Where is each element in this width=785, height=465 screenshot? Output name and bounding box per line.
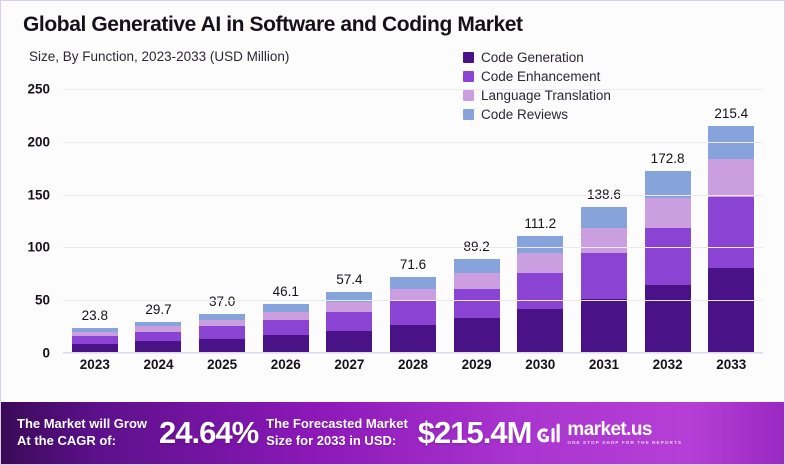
bar-segment[interactable] <box>454 259 500 273</box>
bar-segment[interactable] <box>390 277 436 288</box>
x-axis-labels: 2023202420252026202720282029203020312032… <box>63 357 763 381</box>
x-axis-tick-label: 2027 <box>318 357 382 381</box>
x-axis-tick-label: 2032 <box>636 357 700 381</box>
stacked-bar[interactable]: 57.4 <box>326 292 372 353</box>
stacked-bar[interactable]: 138.6 <box>581 207 627 353</box>
bar-segment[interactable] <box>708 268 754 353</box>
bar-segment[interactable] <box>581 207 627 229</box>
cagr-caption-line1: The Market will Grow <box>17 416 147 433</box>
bar-segment[interactable] <box>326 302 372 312</box>
stacked-bar[interactable]: 89.2 <box>454 259 500 353</box>
bar-segment[interactable] <box>135 332 181 342</box>
y-axis-tick-label: 50 <box>4 293 50 308</box>
bar-slot: 172.8 <box>636 89 700 353</box>
bar-value-label: 89.2 <box>464 239 490 254</box>
cagr-caption: The Market will Grow At the CAGR of: <box>17 416 147 449</box>
bar-segment[interactable] <box>517 309 563 353</box>
bar-slot: 23.8 <box>63 89 127 353</box>
bar-value-label: 57.4 <box>336 272 362 287</box>
bar-segment[interactable] <box>263 312 309 320</box>
bar-segment[interactable] <box>199 339 245 353</box>
bar-segment[interactable] <box>708 159 754 197</box>
bar-slot: 71.6 <box>381 89 445 353</box>
bar-group: 23.829.737.046.157.471.689.2111.2138.617… <box>63 89 763 353</box>
bar-segment[interactable] <box>645 228 691 285</box>
y-axis-tick-label: 0 <box>4 346 50 361</box>
bar-value-label: 23.8 <box>82 308 108 323</box>
bar-segment[interactable] <box>454 318 500 353</box>
bar-slot: 138.6 <box>572 89 636 353</box>
stacked-bar[interactable]: 37.0 <box>199 314 245 353</box>
bar-value-label: 172.8 <box>651 151 685 166</box>
stacked-bar[interactable]: 23.8 <box>72 328 118 353</box>
gridline <box>63 353 763 354</box>
bar-slot: 29.7 <box>127 89 191 353</box>
chart-subtitle: Size, By Function, 2023-2033 (USD Millio… <box>29 49 289 64</box>
bar-segment[interactable] <box>517 253 563 273</box>
bar-segment[interactable] <box>517 236 563 253</box>
bar-slot: 215.4 <box>699 89 763 353</box>
y-axis-tick-label: 200 <box>4 134 50 149</box>
stacked-bar[interactable]: 46.1 <box>263 304 309 353</box>
bar-slot: 57.4 <box>318 89 382 353</box>
stacked-bar[interactable]: 71.6 <box>390 277 436 353</box>
bar-value-label: 37.0 <box>209 294 235 309</box>
bar-segment[interactable] <box>72 336 118 344</box>
cagr-value: 24.64% <box>159 415 258 451</box>
gridline <box>63 142 763 143</box>
bar-segment[interactable] <box>263 304 309 311</box>
bar-segment[interactable] <box>326 312 372 331</box>
bar-segment[interactable] <box>517 273 563 310</box>
logo-tagline: ONE STOP SHOP FOR THE REPORTS <box>567 441 682 446</box>
bar-value-label: 46.1 <box>273 284 299 299</box>
gridline <box>63 247 763 248</box>
x-axis-tick-label: 2030 <box>508 357 572 381</box>
chart-card: Global Generative AI in Software and Cod… <box>0 0 785 465</box>
y-axis-tick-label: 250 <box>4 82 50 97</box>
legend-item[interactable]: Code Enhancement <box>463 68 611 85</box>
x-axis-tick-label: 2025 <box>190 357 254 381</box>
footer-banner: The Market will Grow At the CAGR of: 24.… <box>1 402 784 464</box>
x-axis-tick-label: 2029 <box>445 357 509 381</box>
bar-slot: 89.2 <box>445 89 509 353</box>
bar-segment[interactable] <box>199 326 245 338</box>
bar-value-label: 215.4 <box>714 106 748 121</box>
bar-segment[interactable] <box>263 320 309 335</box>
forecast-caption: The Forecasted Market Size for 2033 in U… <box>266 416 408 449</box>
bar-slot: 46.1 <box>254 89 318 353</box>
page-title: Global Generative AI in Software and Cod… <box>23 13 523 37</box>
x-axis-tick-label: 2026 <box>254 357 318 381</box>
cagr-caption-line2: At the CAGR of: <box>17 433 147 450</box>
gridline <box>63 195 763 196</box>
stacked-bar[interactable]: 172.8 <box>645 171 691 353</box>
y-axis-tick-label: 150 <box>4 187 50 202</box>
logo-bars-icon <box>533 420 563 446</box>
bar-segment[interactable] <box>645 198 691 229</box>
logo-text: market.us ONE STOP SHOP FOR THE REPORTS <box>567 420 682 446</box>
bar-slot: 111.2 <box>508 89 572 353</box>
plot-region: 23.829.737.046.157.471.689.2111.2138.617… <box>63 89 763 353</box>
chart-area: Global Generative AI in Software and Cod… <box>1 1 784 393</box>
legend-swatch-icon <box>463 71 474 82</box>
x-axis-tick-label: 2024 <box>127 357 191 381</box>
legend-label: Code Generation <box>481 50 584 65</box>
gridline <box>63 300 763 301</box>
x-axis-tick-label: 2028 <box>381 357 445 381</box>
forecast-value: $215.4M <box>418 415 532 451</box>
legend-item[interactable]: Code Generation <box>463 49 611 66</box>
bar-segment[interactable] <box>390 325 436 353</box>
x-axis-tick-label: 2033 <box>699 357 763 381</box>
x-axis-tick-label: 2023 <box>63 357 127 381</box>
bar-segment[interactable] <box>645 285 691 353</box>
y-axis-tick-label: 100 <box>4 240 50 255</box>
stacked-bar[interactable]: 215.4 <box>708 126 754 353</box>
x-axis-tick-label: 2031 <box>572 357 636 381</box>
bar-segment[interactable] <box>390 301 436 325</box>
bar-segment[interactable] <box>263 335 309 353</box>
forecast-caption-line1: The Forecasted Market <box>266 416 408 433</box>
bar-segment[interactable] <box>454 273 500 289</box>
bar-segment[interactable] <box>454 289 500 318</box>
bar-value-label: 71.6 <box>400 257 426 272</box>
bar-value-label: 111.2 <box>524 216 556 231</box>
forecast-caption-line2: Size for 2033 in USD: <box>266 433 408 450</box>
legend-label: Code Enhancement <box>481 69 600 84</box>
gridline <box>63 89 763 90</box>
stacked-bar[interactable]: 29.7 <box>135 322 181 353</box>
bar-segment[interactable] <box>581 299 627 353</box>
bar-segment[interactable] <box>708 197 754 268</box>
legend-swatch-icon <box>463 52 474 63</box>
bar-slot: 37.0 <box>190 89 254 353</box>
bar-segment[interactable] <box>326 331 372 353</box>
bar-value-label: 29.7 <box>145 302 171 317</box>
market-us-logo[interactable]: market.us ONE STOP SHOP FOR THE REPORTS <box>533 420 682 446</box>
bar-segment[interactable] <box>581 228 627 253</box>
stacked-bar[interactable]: 111.2 <box>517 236 563 353</box>
bar-segment[interactable] <box>581 253 627 299</box>
logo-name: market.us <box>567 420 682 439</box>
